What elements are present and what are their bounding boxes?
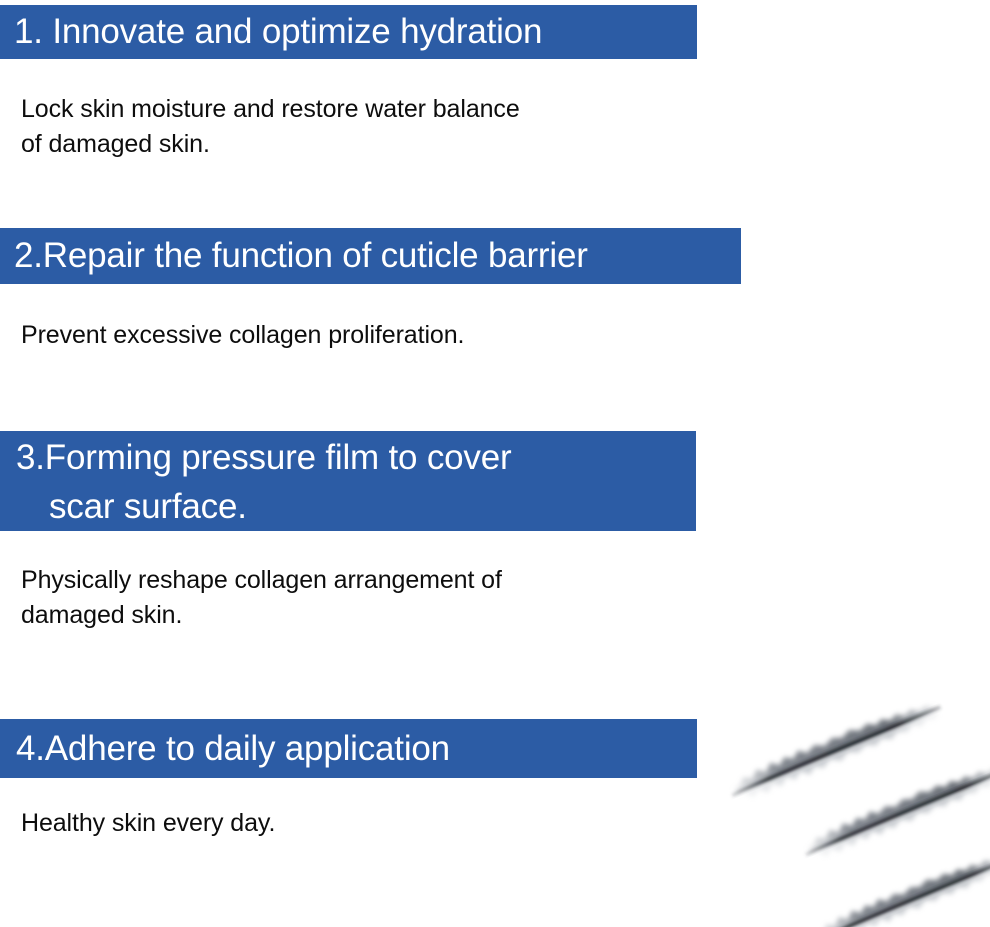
scar-marks-illustration [702, 652, 990, 927]
section-2-heading-text: 2.Repair the function of cuticle barrier [14, 228, 741, 284]
infographic-page: 1. Innovate and optimize hydration Lock … [0, 0, 990, 927]
section-1-heading-text: 1. Innovate and optimize hydration [14, 5, 697, 59]
section-2-body-text: Prevent excessive collagen proliferation… [21, 318, 681, 353]
section-4-heading-banner: 4.Adhere to daily application [0, 719, 697, 778]
section-3-body-text: Physically reshape collagen arrangement … [21, 563, 681, 633]
scar-marks-graphic [702, 652, 990, 927]
section-4-body-text: Healthy skin every day. [21, 806, 681, 841]
section-1-body-text: Lock skin moisture and restore water bal… [21, 92, 681, 162]
section-1-heading-banner: 1. Innovate and optimize hydration [0, 5, 697, 59]
section-3-heading-banner: 3.Forming pressure film to cover scar su… [0, 431, 696, 531]
section-4-heading-text: 4.Adhere to daily application [16, 719, 697, 778]
section-2-heading-banner: 2.Repair the function of cuticle barrier [0, 228, 741, 284]
section-3-heading-line-2: scar surface. [16, 482, 696, 531]
section-3-heading-line-1: 3.Forming pressure film to cover [16, 433, 696, 482]
